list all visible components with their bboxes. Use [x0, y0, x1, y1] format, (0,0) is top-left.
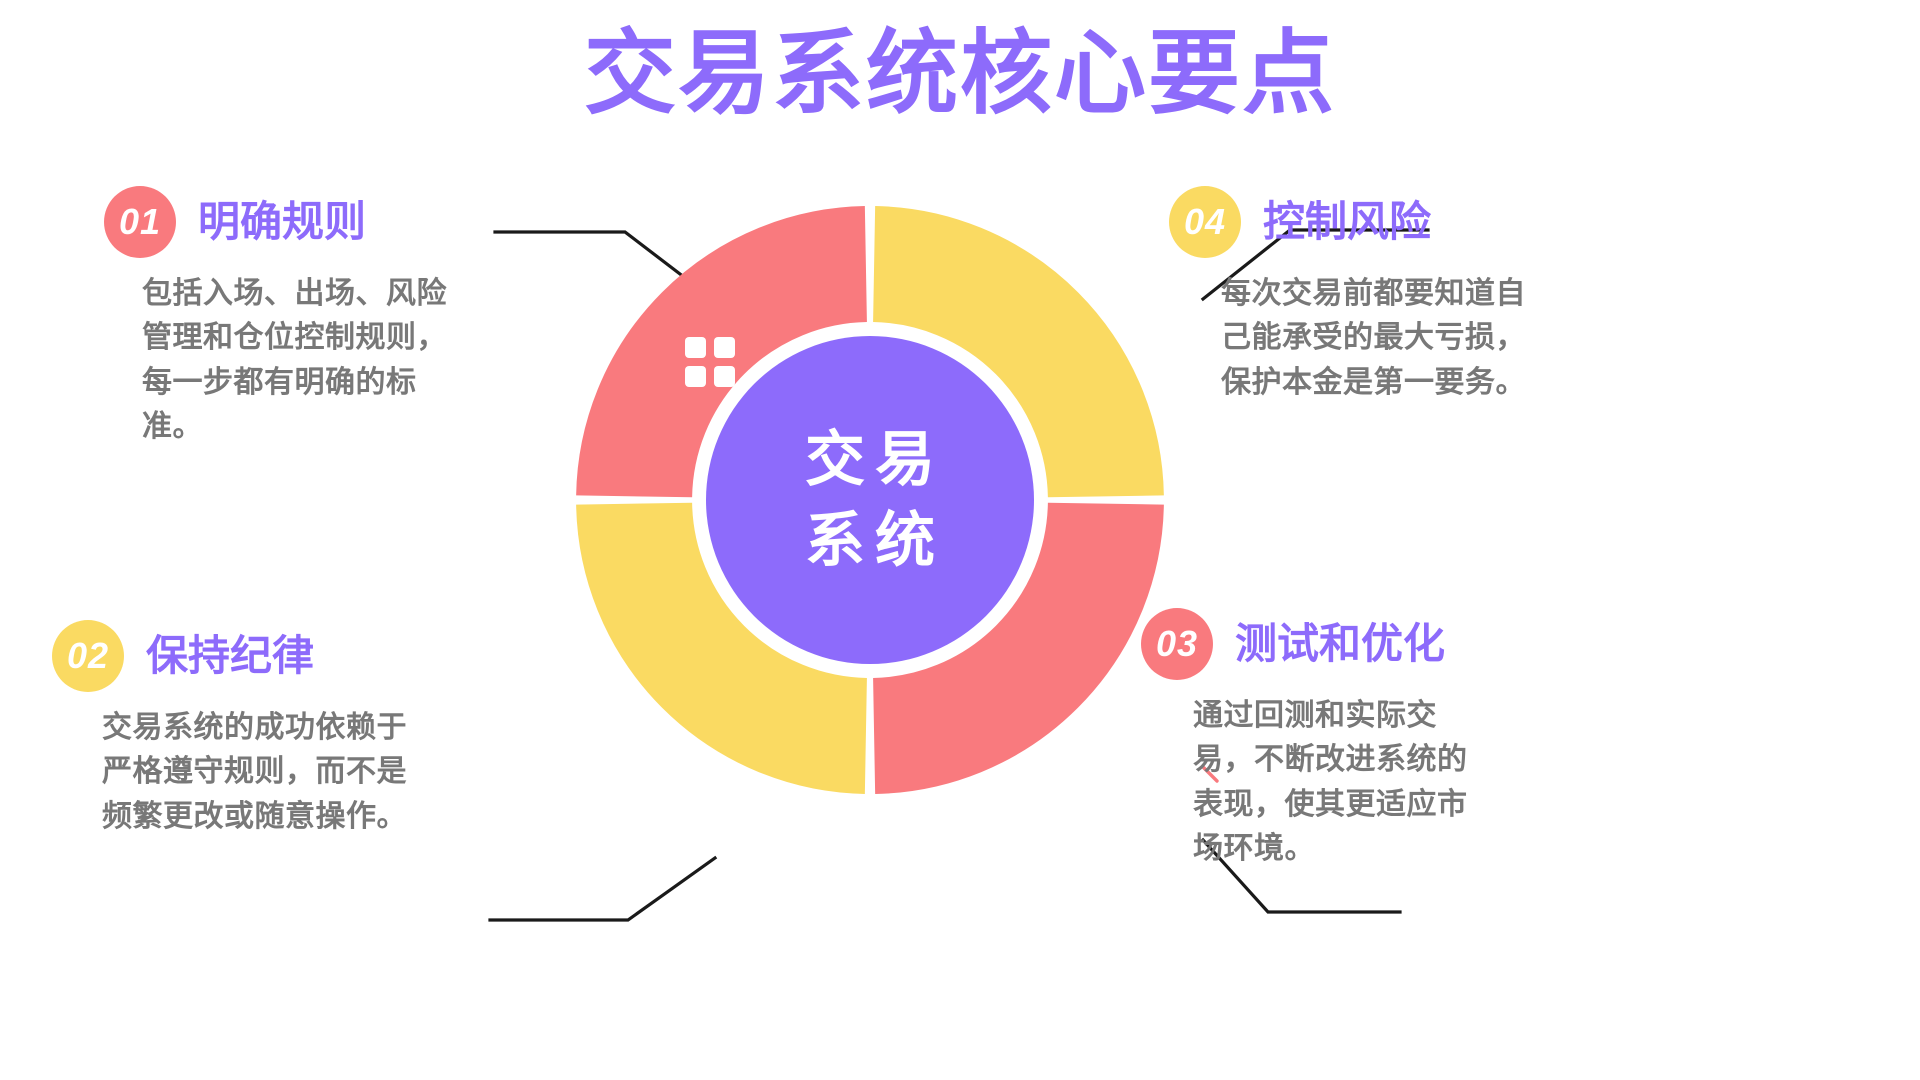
grid-icon: [684, 336, 736, 393]
item-02-header: 02 保持纪律: [52, 620, 452, 692]
item-04-header: 04 控制风险: [1169, 186, 1569, 258]
item-02[interactable]: 02 保持纪律 交易系统的成功依赖于严格遵守规则，而不是频繁更改或随意操作。: [52, 620, 452, 839]
item-03-badge: 03: [1141, 608, 1213, 680]
award-icon: [684, 755, 742, 822]
item-04[interactable]: 04 控制风险 每次交易前都要知道自己能承受的最大亏损，保护本金是第一要务。: [1169, 186, 1569, 405]
item-01-header: 01 明确规则: [104, 186, 484, 258]
center-text-line1: 交易: [795, 419, 945, 500]
item-01-title: 明确规则: [198, 201, 366, 243]
item-02-body: 交易系统的成功依赖于严格遵守规则，而不是频繁更改或随意操作。: [102, 706, 412, 839]
center-hub: 交易 系统: [706, 336, 1034, 664]
page-title: 交易系统核心要点: [0, 26, 1920, 123]
item-01[interactable]: 01 明确规则 包括入场、出场、风险管理和仓位控制规则，每一步都有明确的标准。: [104, 186, 484, 450]
item-04-title: 控制风险: [1263, 201, 1431, 243]
item-01-body: 包括入场、出场、风险管理和仓位控制规则，每一步都有明确的标准。: [142, 272, 452, 450]
item-02-badge: 02: [52, 620, 124, 692]
item-01-badge: 01: [104, 186, 176, 258]
item-03-title: 测试和优化: [1235, 623, 1445, 665]
item-03-body: 通过回测和实际交易，不断改进系统的表现，使其更适应市场环境。: [1193, 694, 1493, 872]
item-04-body: 每次交易前都要知道自己能承受的最大亏损，保护本金是第一要务。: [1221, 272, 1531, 405]
item-03[interactable]: 03 测试和优化 通过回测和实际交易，不断改进系统的表现，使其更适应市场环境。: [1141, 608, 1541, 872]
item-03-header: 03 测试和优化: [1141, 608, 1541, 680]
infographic-canvas: 交易系统核心要点: [0, 0, 1920, 1080]
item-04-badge: 04: [1169, 186, 1241, 258]
center-text-line2: 系统: [795, 500, 945, 581]
connector-line-02: [490, 858, 715, 920]
item-02-title: 保持纪律: [146, 635, 314, 677]
